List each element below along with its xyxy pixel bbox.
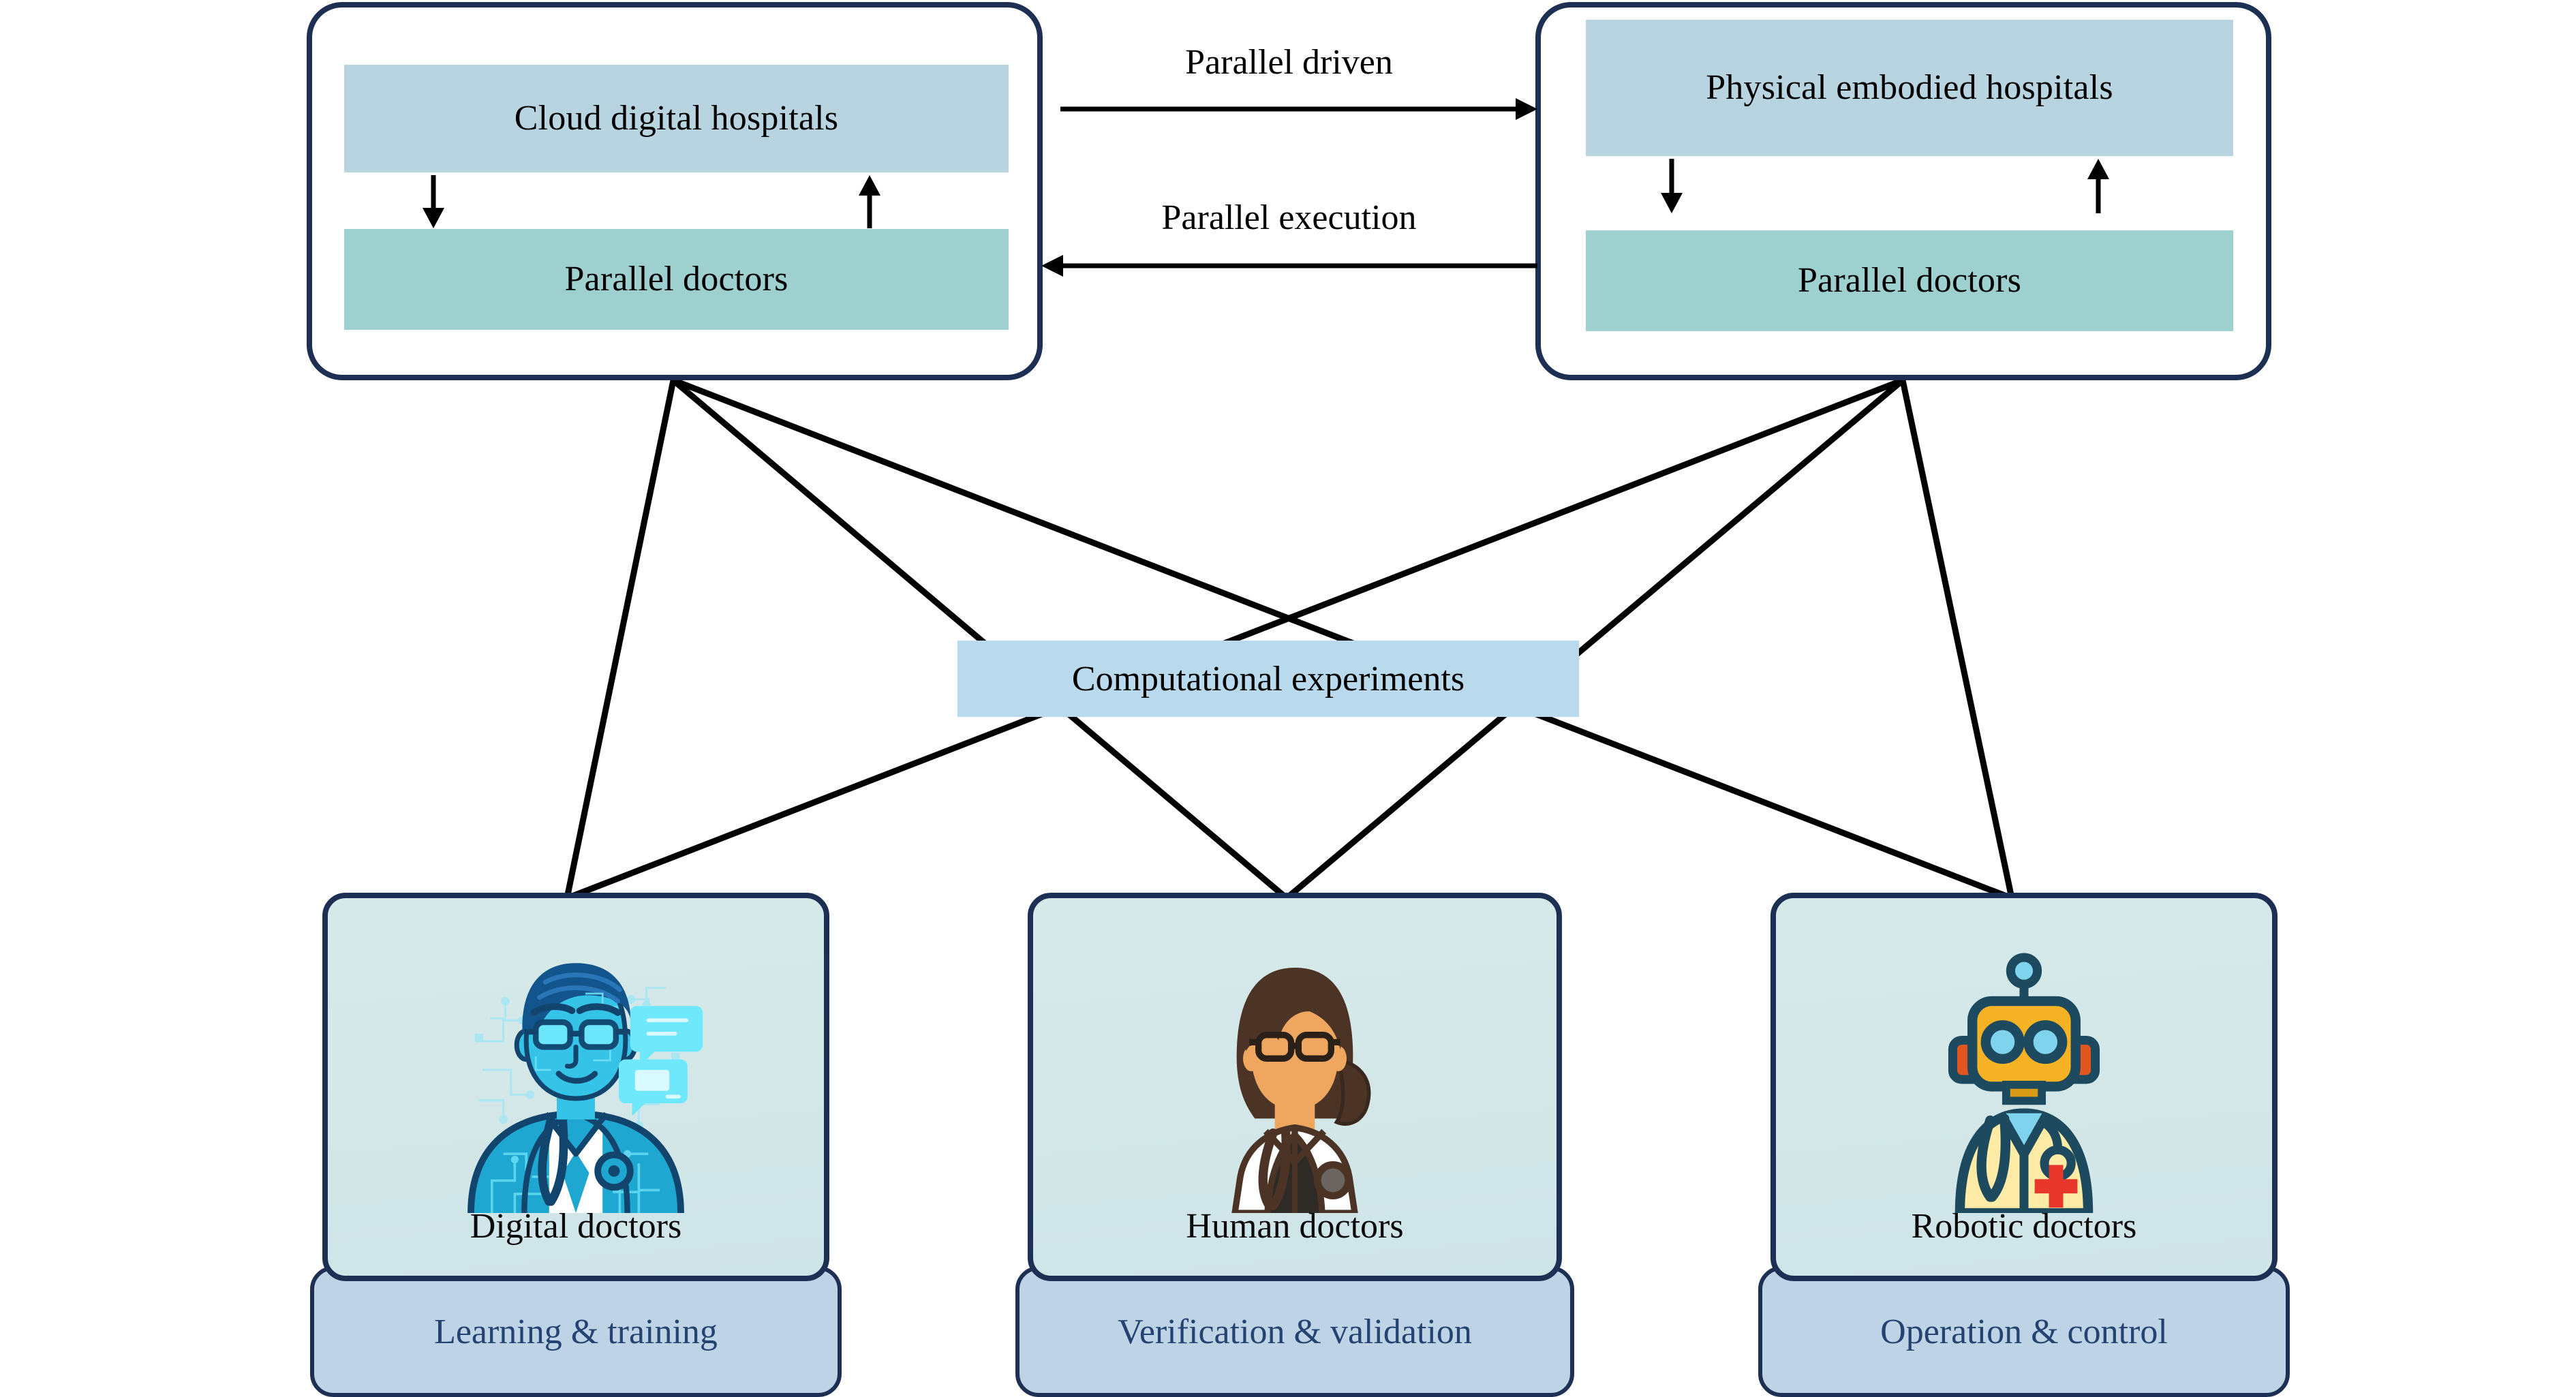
robotic-doctors-title: Robotic doctors — [1776, 1206, 2272, 1246]
computational-experiments-label: Computational experiments — [1072, 659, 1465, 699]
card-digital-doctors[interactable]: Learning & training — [310, 893, 842, 1394]
left-parallel-doctors-band: Parallel doctors — [344, 229, 1009, 330]
right-parallel-doctors-label: Parallel doctors — [1798, 260, 2021, 301]
digital-doctors-footer-label: Learning & training — [434, 1312, 718, 1352]
digital-doctors-footer: Learning & training — [310, 1266, 842, 1397]
link-left-to-digital — [567, 380, 673, 898]
human-doctors-title: Human doctors — [1033, 1206, 1557, 1246]
physical-embodied-hospitals-band: Physical embodied hospitals — [1586, 20, 2233, 156]
arrow-up-icon — [2085, 159, 2112, 213]
arrow-down-icon — [420, 175, 447, 228]
link-right-to-robotic — [1903, 380, 2012, 898]
parallel-execution-label: Parallel execution — [1043, 198, 1535, 238]
arrow-right-icon — [1060, 95, 1537, 123]
robotic-doctors-footer-label: Operation & control — [1880, 1312, 2168, 1352]
right-parallel-doctors-band: Parallel doctors — [1586, 230, 2233, 331]
cloud-digital-hospitals-label: Cloud digital hospitals — [515, 97, 839, 139]
computational-experiments-box: Computational experiments — [957, 641, 1579, 717]
cloud-digital-hospitals-band: Cloud digital hospitals — [344, 65, 1009, 172]
arrow-down-icon — [1658, 159, 1685, 213]
parallel-driven-label: Parallel driven — [1043, 42, 1535, 82]
diagram-canvas: Cloud digital hospitals Parallel doctors… — [0, 0, 2576, 1394]
digital-doctor-avatar-icon — [328, 898, 824, 1213]
cloud-digital-hospital-container: Cloud digital hospitals Parallel doctors — [307, 2, 1043, 380]
human-doctors-footer-label: Verification & validation — [1118, 1312, 1472, 1352]
arrow-up-icon — [856, 175, 883, 228]
card-human-doctors[interactable]: Verification & validation — [1015, 893, 1574, 1394]
card-robotic-doctors[interactable]: Operation & control — [1758, 893, 2290, 1394]
human-doctor-avatar-icon — [1033, 898, 1557, 1213]
robotic-doctors-footer: Operation & control — [1758, 1266, 2290, 1397]
digital-doctors-title: Digital doctors — [328, 1206, 824, 1246]
digital-doctors-body: Digital doctors — [322, 893, 829, 1281]
physical-embodied-hospital-container: Physical embodied hospitals Parallel doc… — [1535, 2, 2271, 380]
human-doctors-body: Human doctors — [1028, 893, 1562, 1281]
physical-embodied-hospitals-label: Physical embodied hospitals — [1706, 67, 2113, 108]
human-doctors-footer: Verification & validation — [1015, 1266, 1574, 1397]
robotic-doctors-body: Robotic doctors — [1770, 893, 2278, 1281]
robot-doctor-avatar-icon — [1776, 898, 2272, 1213]
left-parallel-doctors-label: Parallel doctors — [564, 258, 788, 300]
arrow-left-icon — [1041, 252, 1537, 279]
